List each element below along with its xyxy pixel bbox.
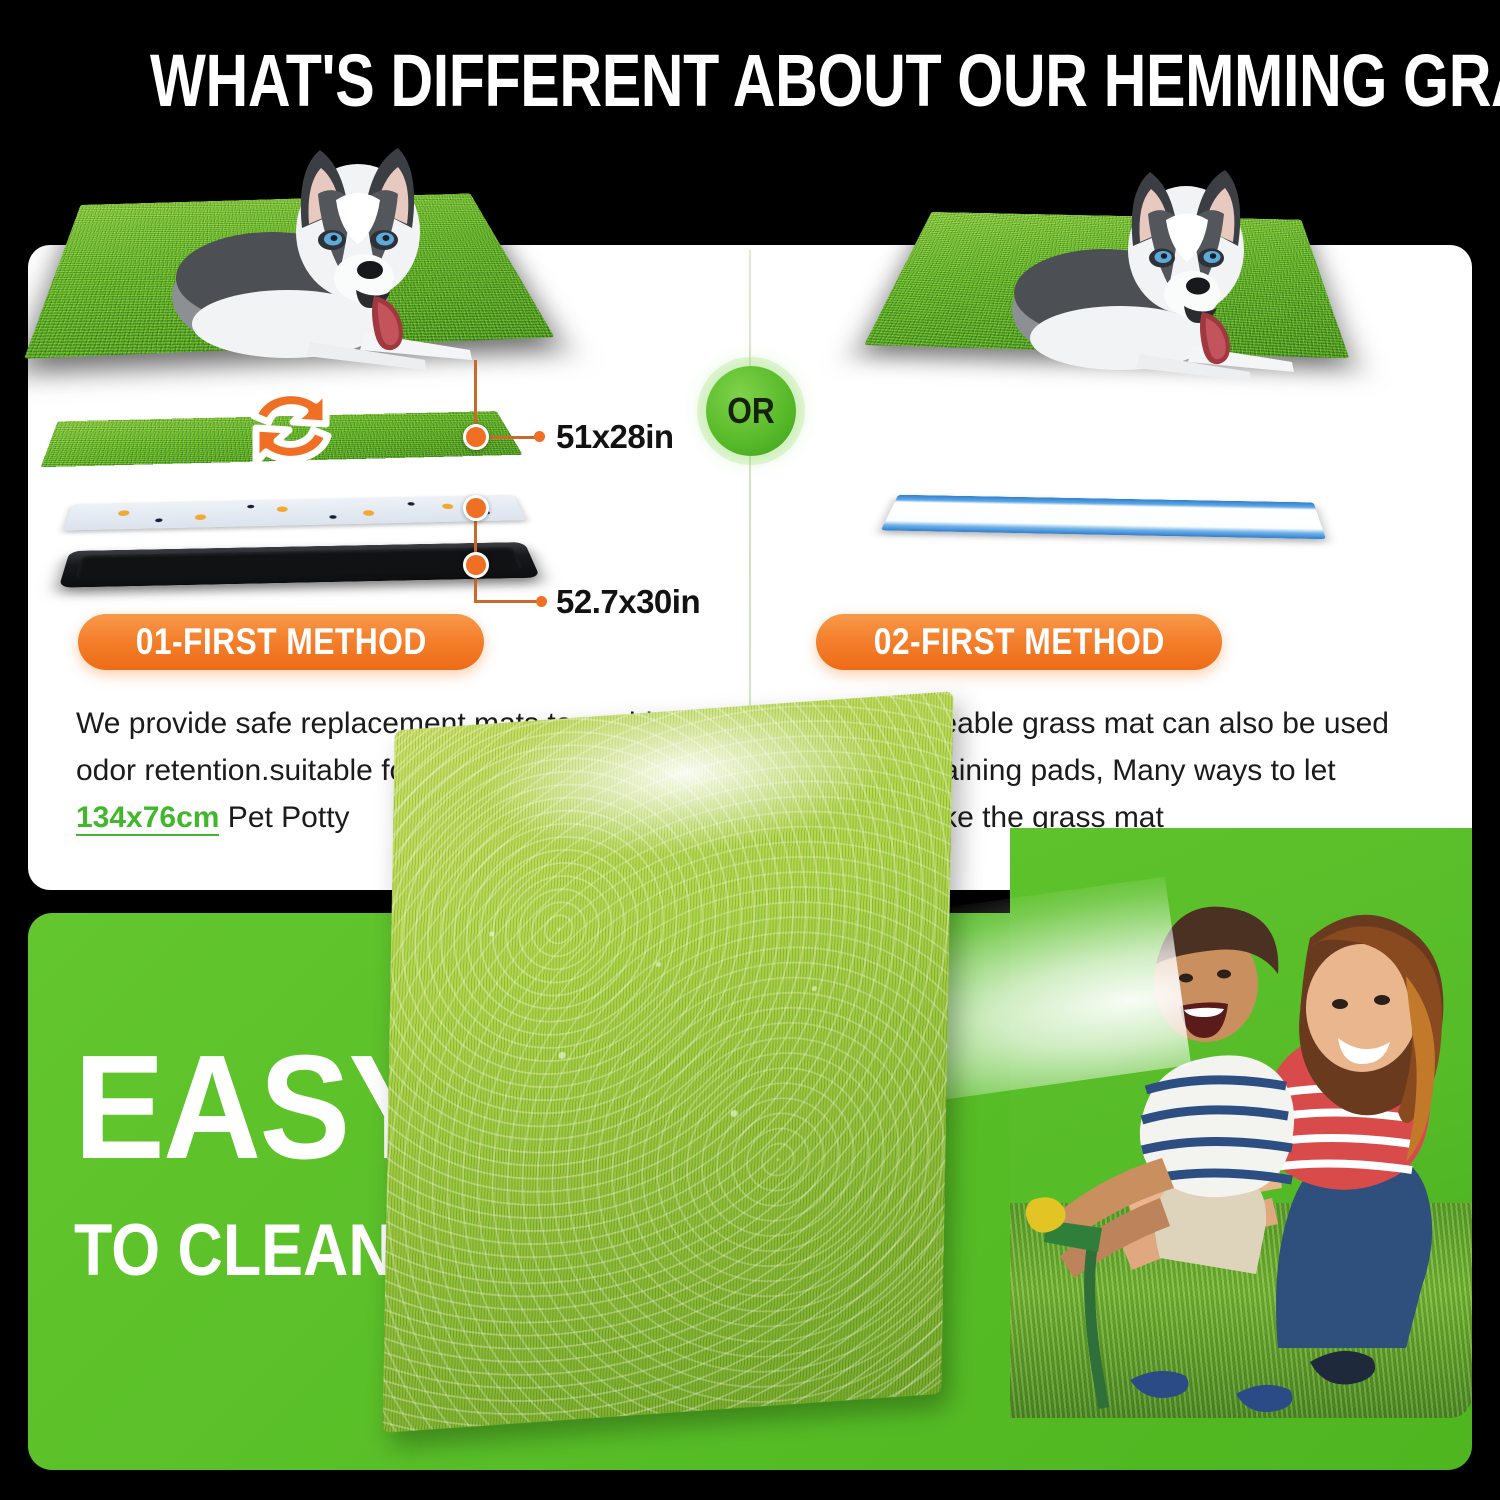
callout-endpoint-tray — [536, 596, 547, 607]
callout-line-vertical-bottom — [474, 575, 477, 602]
dimension-label-mat: 51x28in — [556, 418, 674, 456]
swap-arrows-icon — [232, 372, 350, 480]
wet-grass-mat — [383, 691, 954, 1433]
or-label: OR — [727, 390, 775, 432]
method-badge-02: 02-FIRST METHOD — [816, 614, 1222, 670]
hose-photo — [1010, 828, 1472, 1418]
husky-dog-right — [1000, 150, 1320, 390]
infographic-root: WHAT'S DIFFERENT ABOUT OUR HEMMING GRASS… — [0, 0, 1500, 1500]
or-badge: OR — [706, 366, 796, 456]
callout-endpoint-mat — [534, 431, 545, 442]
husky-dog-left — [160, 128, 500, 378]
dimension-label-tray: 52.7x30in — [556, 583, 700, 621]
method-01-text-after: Pet Potty — [219, 801, 349, 834]
callout-dot-tray — [463, 552, 489, 578]
feature-subline: TO CLEAN — [74, 1216, 394, 1286]
method-badge-01-label: 01-FIRST METHOD — [136, 621, 427, 663]
feature-headline: EASY — [74, 1043, 437, 1173]
method-badge-01: 01-FIRST METHOD — [78, 614, 484, 670]
callout-dot-mat — [463, 424, 489, 450]
page-title: WHAT'S DIFFERENT ABOUT OUR HEMMING GRASS… — [150, 38, 1350, 123]
method-badge-02-label: 02-FIRST METHOD — [874, 621, 1165, 663]
callout-line-tray — [474, 600, 540, 603]
callout-dot-pad — [463, 495, 489, 521]
